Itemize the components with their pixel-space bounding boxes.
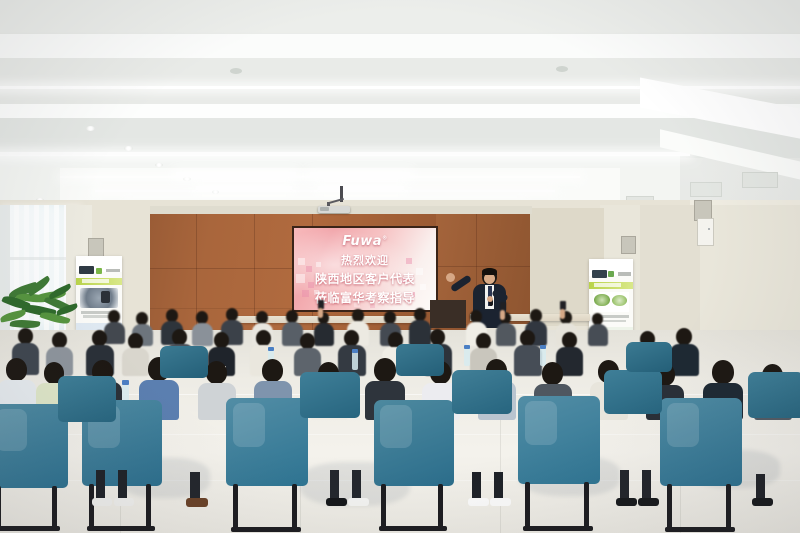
chair[interactable]	[604, 370, 662, 414]
conference-room-photo: Fuwa® 热烈欢迎 陕西地区客户代表 莅临富华考察指导	[0, 0, 800, 533]
chair[interactable]	[300, 372, 360, 418]
chair[interactable]	[626, 342, 672, 372]
chair[interactable]	[58, 376, 116, 422]
chair[interactable]	[396, 344, 444, 376]
chair[interactable]	[452, 370, 512, 414]
chair[interactable]	[748, 372, 800, 418]
attendee-legs	[0, 470, 800, 530]
chair[interactable]	[160, 346, 208, 378]
